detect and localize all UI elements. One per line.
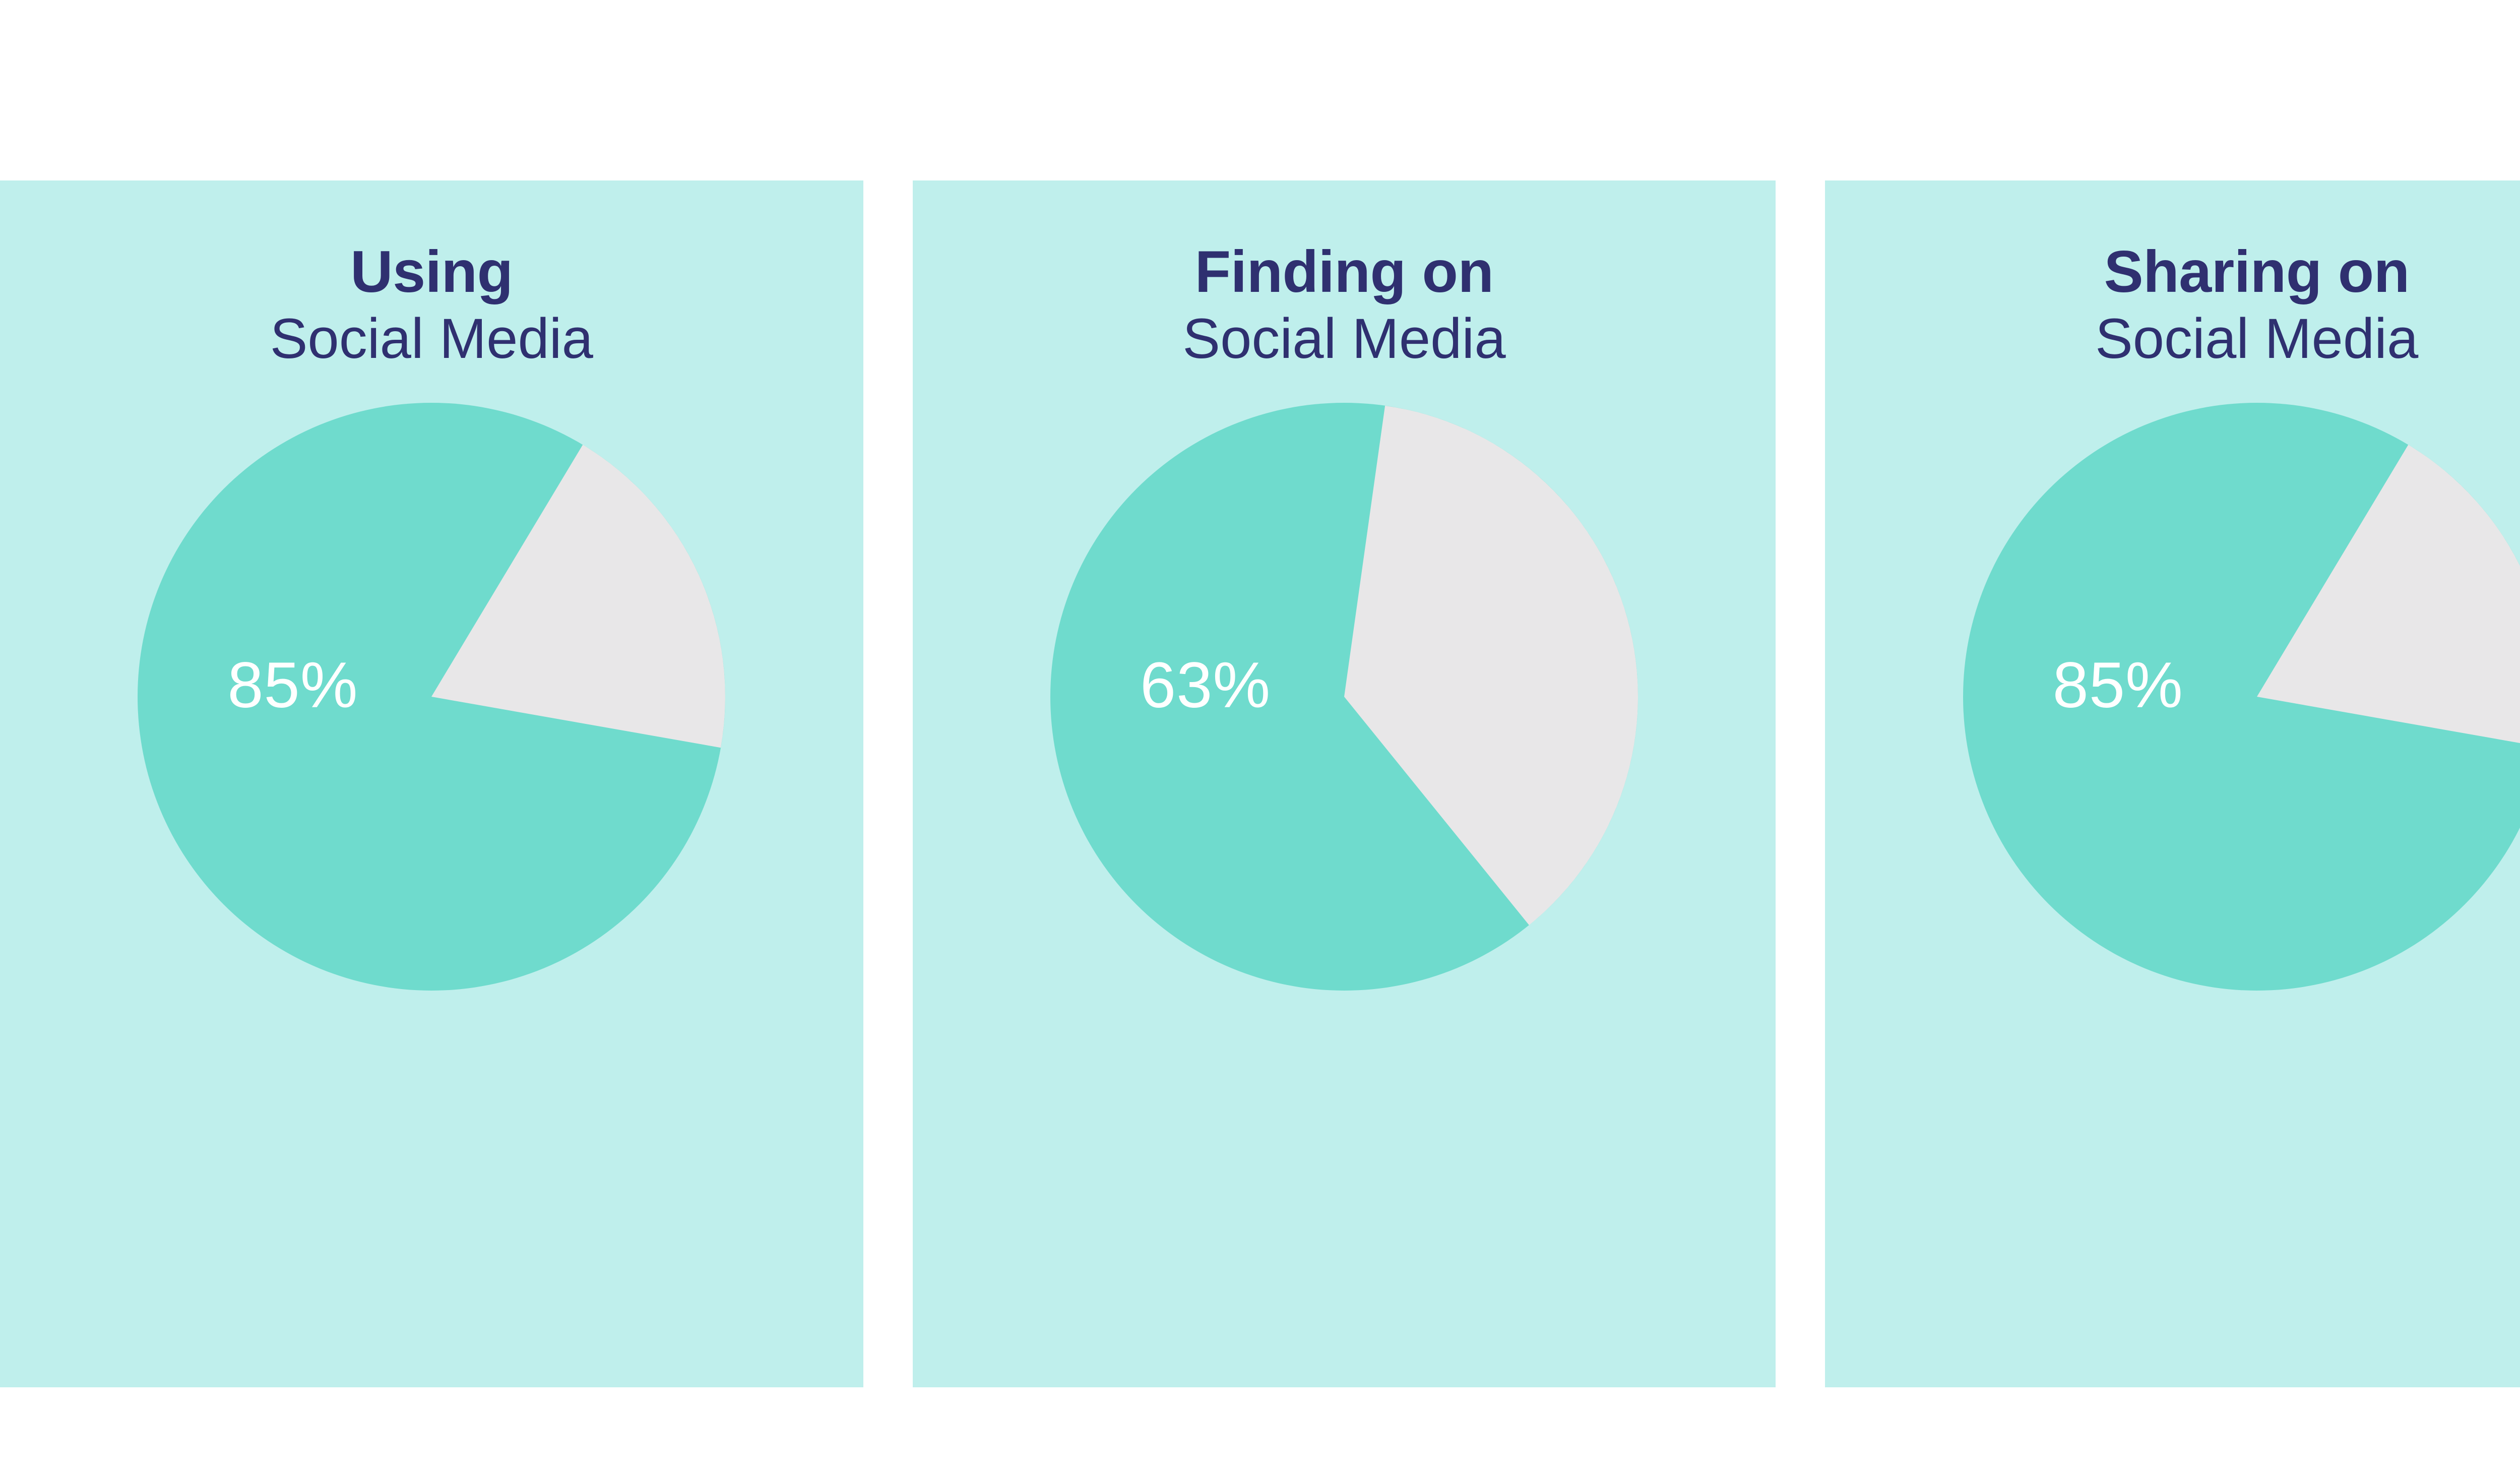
panel-heading: Using Social Media [0,240,863,370]
pie-chart-sharing: 85% [1962,402,2520,992]
panel-heading: Sharing on Social Media [1825,240,2520,370]
panel-title: Finding on [913,240,1776,303]
panel-title: Sharing on [1825,240,2520,303]
panel-subtitle: Social Media [913,309,1776,370]
pie-chart-svg [137,402,726,992]
panel-heading: Finding on Social Media [913,240,1776,370]
stat-panel-using: Using Social Media 85% [0,180,863,1387]
pie-chart-svg [1962,402,2520,992]
pie-chart-finding: 63% [1049,402,1639,992]
infographic-canvas: Using Social Media 85% Finding on Social… [0,0,2520,1471]
panel-title: Using [0,240,863,303]
stat-panel-finding: Finding on Social Media 63% [913,180,1776,1387]
panel-subtitle: Social Media [1825,309,2520,370]
panel-subtitle: Social Media [0,309,863,370]
pie-chart-using: 85% [137,402,726,992]
pie-chart-svg [1049,402,1639,992]
stat-panel-row: Using Social Media 85% Finding on Social… [0,180,2520,1387]
stat-panel-sharing: Sharing on Social Media 85% [1825,180,2520,1387]
